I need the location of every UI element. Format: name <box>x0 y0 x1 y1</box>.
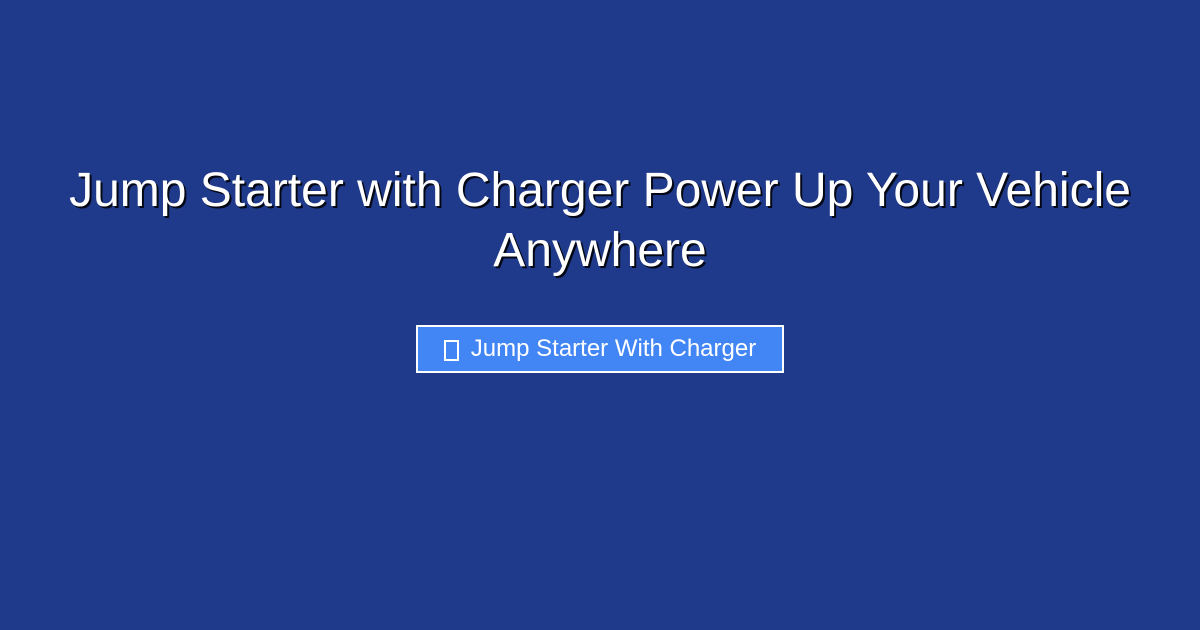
page-title: Jump Starter with Charger Power Up Your … <box>60 161 1140 281</box>
hero-card: Jump Starter with Charger Power Up Your … <box>0 0 1200 630</box>
cta-button-label: Jump Starter With Charger <box>471 335 756 364</box>
cta-container: Jump Starter With Charger <box>416 325 784 373</box>
jump-starter-with-charger-button[interactable]: Jump Starter With Charger <box>416 325 784 373</box>
missing-glyph-box-icon <box>444 340 459 361</box>
hero-content: Jump Starter with Charger Power Up Your … <box>40 161 1160 373</box>
